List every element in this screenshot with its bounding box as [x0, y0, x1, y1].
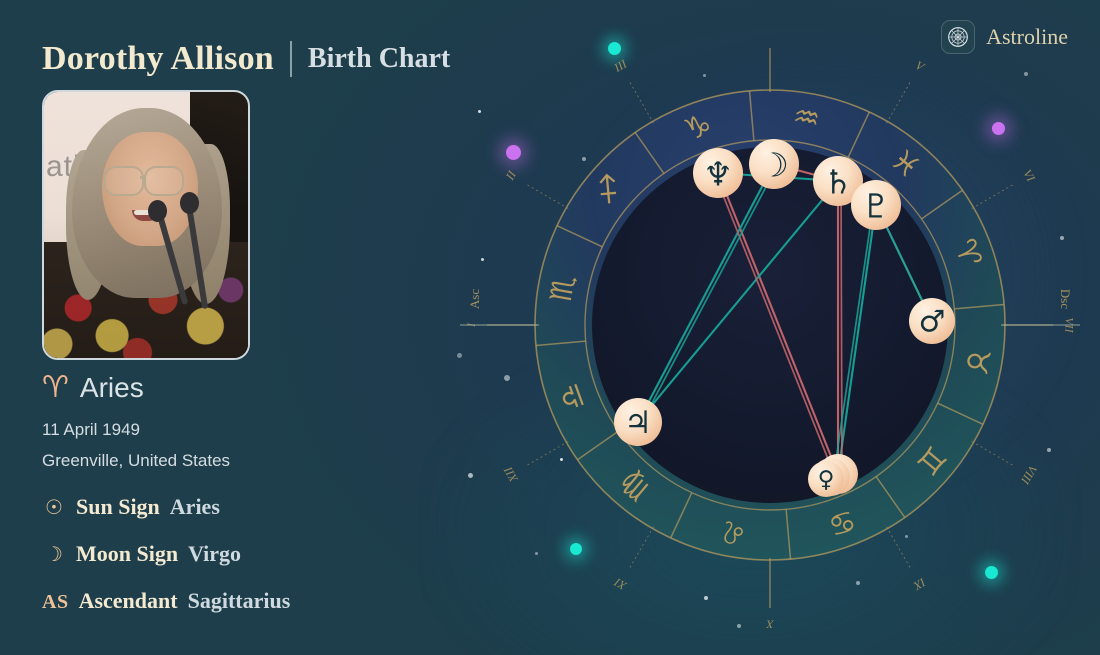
planet-token-venus[interactable]: ♀ — [808, 461, 844, 497]
planet-token-jupiter[interactable]: ♃ — [614, 398, 662, 446]
natal-wheel[interactable]: ♎♍♌♋♊♉♈♓♒♑♐♏ IIIIIIIVVVIVIIVIIIIXXXIXII … — [460, 48, 1080, 648]
planet-token-pluto[interactable]: ♇ — [851, 180, 901, 230]
sun-icon: ☉ — [42, 495, 66, 519]
house-numeral: VI — [1020, 167, 1038, 185]
house-numeral: VIII — [1018, 463, 1040, 488]
page-subtitle: Birth Chart — [308, 43, 450, 75]
svg-text:☽: ☽ — [759, 146, 789, 185]
sun-sign-name: Aries — [80, 372, 144, 404]
house-numeral: XI — [611, 575, 630, 594]
brand-name: Astroline — [986, 24, 1068, 50]
fact-ascendant: AS Ascendant Sagittarius — [42, 588, 290, 614]
ascendant-label: Ascendant — [79, 588, 178, 614]
sun-sign-value: Aries — [170, 494, 220, 520]
moon-sign-value: Virgo — [188, 541, 241, 567]
fact-moon-sign: ☽ Moon Sign Virgo — [42, 541, 241, 567]
svg-text:♂: ♂ — [919, 305, 946, 340]
svg-text:♀: ♀ — [818, 467, 835, 493]
house-numeral: IX — [911, 575, 929, 594]
svg-text:♇: ♇ — [861, 187, 891, 226]
sun-sign-label: Sun Sign — [76, 494, 160, 520]
aries-glyph-icon: ♈ — [42, 373, 69, 403]
svg-text:♃: ♃ — [624, 405, 652, 441]
ascendant-value: Sagittarius — [188, 588, 291, 614]
page-title: Dorothy Allison — [42, 40, 274, 78]
planet-token-mars[interactable]: ♂ — [909, 298, 955, 344]
planet-token-neptune[interactable]: ♆ — [693, 148, 743, 198]
house-numeral: XII — [500, 464, 521, 486]
title-divider — [290, 41, 292, 77]
birth-date: 11 April 1949 — [42, 420, 140, 440]
fact-sun-sign: ☉ Sun Sign Aries — [42, 494, 220, 520]
moon-icon: ☽ — [42, 542, 66, 566]
portrait-photo: atio — [44, 92, 248, 358]
ascendant-icon: AS — [42, 591, 69, 614]
sun-sign-headline: ♈ Aries — [42, 372, 144, 404]
house-numeral: X — [766, 617, 775, 631]
house-numeral: II — [502, 168, 519, 184]
birth-chart-screen: Astroline Dorothy Allison Birth Chart at… — [0, 0, 1100, 655]
svg-text:♆: ♆ — [703, 155, 733, 194]
moon-sign-label: Moon Sign — [76, 541, 178, 567]
planet-token-moon[interactable]: ☽ — [749, 139, 799, 189]
svg-text:♄: ♄ — [823, 163, 853, 202]
axis-label: Dsc — [1058, 289, 1073, 309]
house-numeral: V — [913, 58, 928, 75]
avatar: atio — [42, 90, 250, 360]
house-numeral: III — [611, 56, 630, 75]
page-header: Dorothy Allison Birth Chart — [42, 40, 450, 78]
birth-place: Greenville, United States — [42, 451, 230, 471]
axis-label: Asc — [467, 289, 482, 309]
